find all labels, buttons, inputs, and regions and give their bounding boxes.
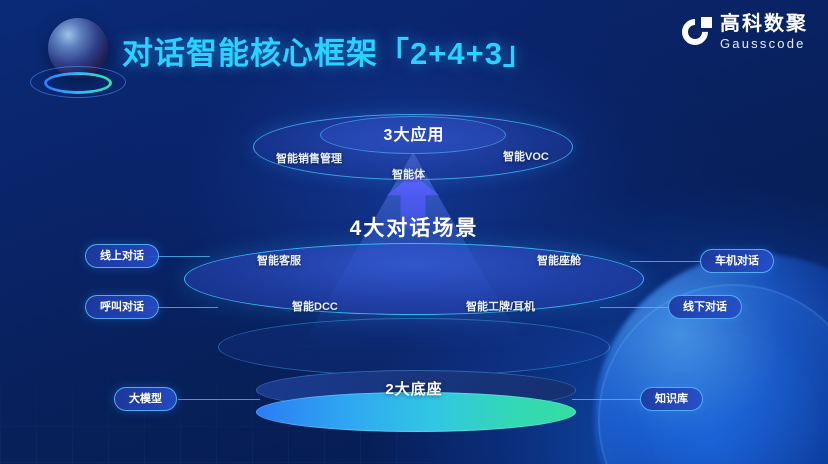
connector-knowledge-base (572, 399, 642, 400)
connector-car-dialog (630, 261, 702, 262)
node-smart-customer-service: 智能客服 (257, 252, 301, 268)
slide-canvas: 对话智能核心框架「2+4+3」 高科数聚 Gausscode 3大应用 4大对话… (0, 0, 828, 464)
node-smart-badge-headset: 智能工牌/耳机 (466, 298, 535, 314)
node-smart-sales-management: 智能销售管理 (276, 150, 342, 166)
node-smart-voc: 智能VOC (503, 148, 549, 164)
node-agent-label: 智能体 (392, 166, 425, 182)
connector-offline-dialog (600, 307, 670, 308)
tier-transition-ellipse (218, 318, 610, 376)
node-smart-cockpit: 智能座舱 (537, 252, 581, 268)
framework-diagram: 3大应用 4大对话场景 2大底座 智能销售管理 智能VOC 智能体 智能客服 智… (0, 0, 828, 464)
connector-large-model (178, 399, 260, 400)
tag-offline-dialog[interactable]: 线下对话 (668, 295, 742, 319)
tier-middle-title: 4大对话场景 (0, 212, 828, 242)
tag-knowledge-base[interactable]: 知识库 (640, 387, 703, 411)
tag-call-dialog[interactable]: 呼叫对话 (85, 295, 159, 319)
tag-car-dialog[interactable]: 车机对话 (700, 249, 774, 273)
node-smart-dcc: 智能DCC (292, 298, 338, 314)
tag-large-model[interactable]: 大模型 (114, 387, 177, 411)
tag-online-dialog[interactable]: 线上对话 (85, 244, 159, 268)
tier-top-title: 3大应用 (0, 121, 828, 145)
